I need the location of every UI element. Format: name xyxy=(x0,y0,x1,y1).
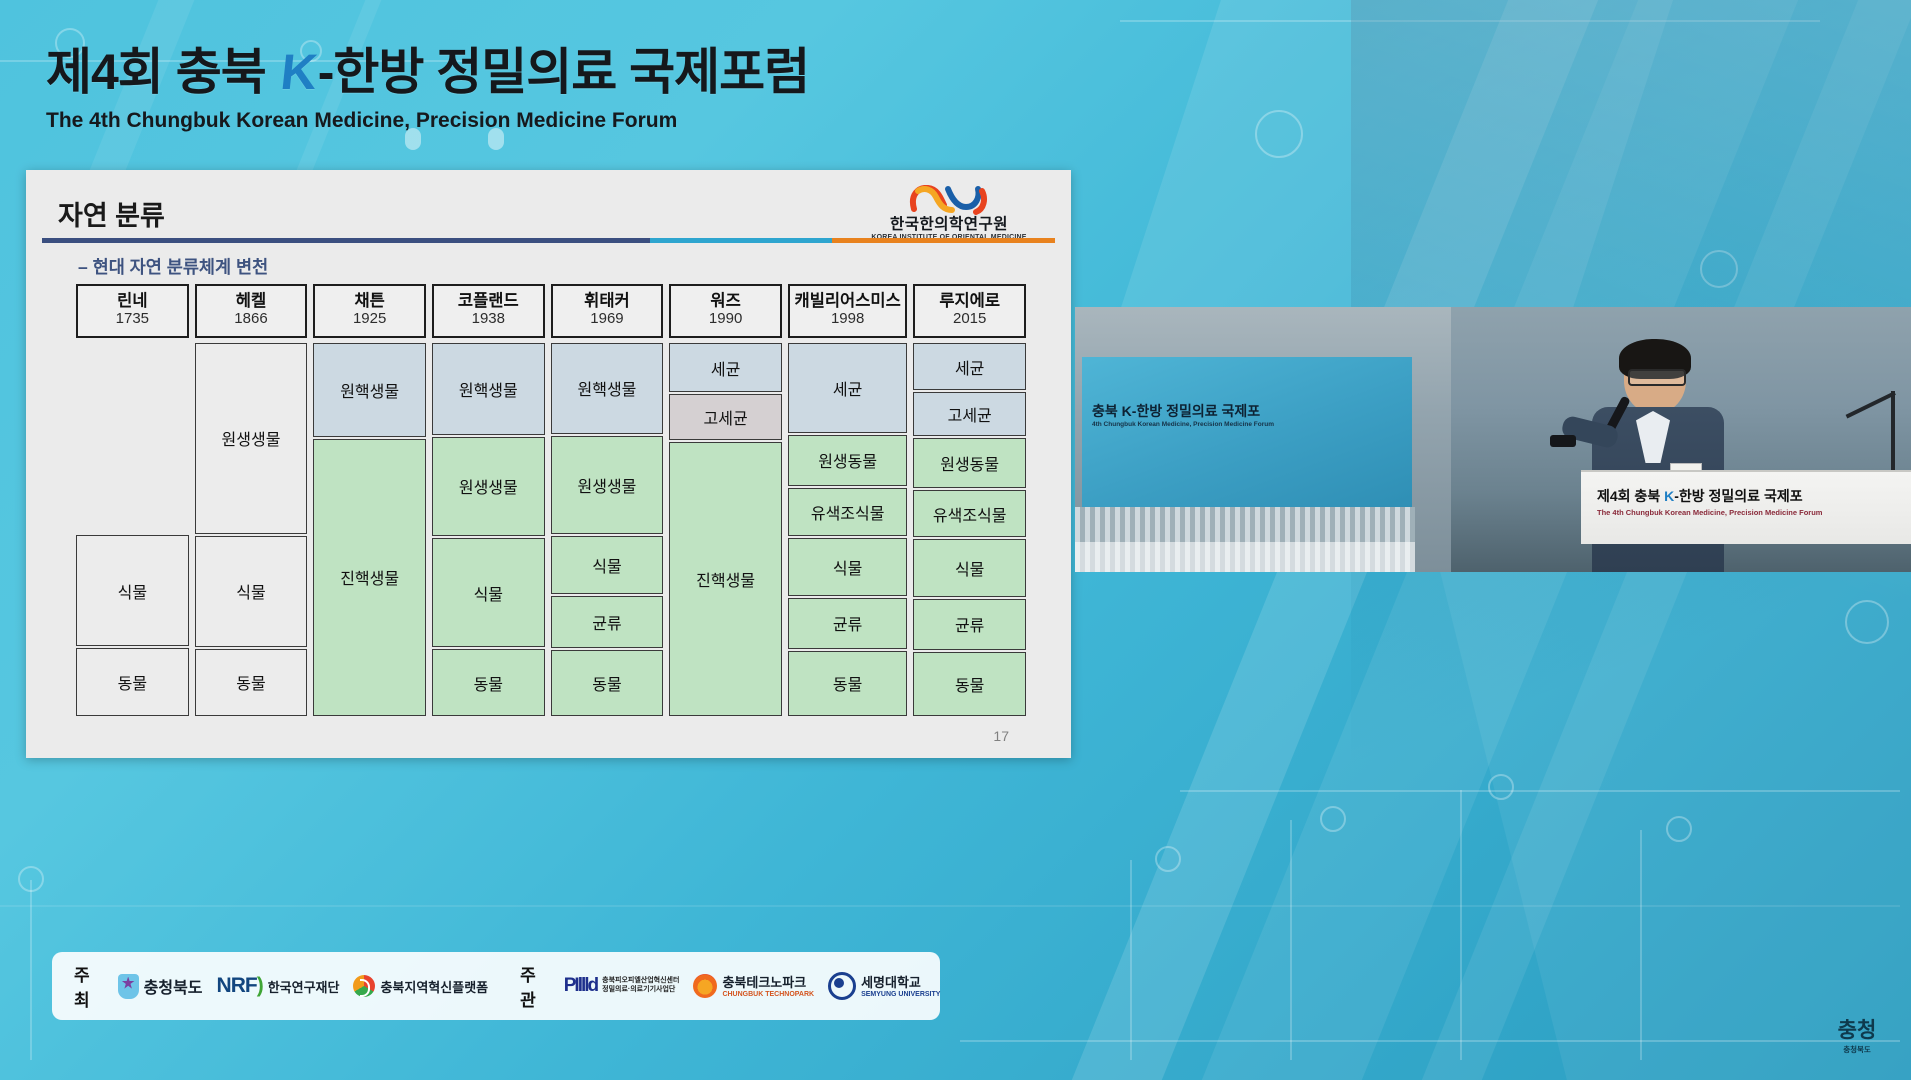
organizer-label-2: 정밀의료·의료기기사업단 xyxy=(602,986,679,995)
table-cell: 균류 xyxy=(788,598,907,649)
organizer-label-2: CHUNGBUK TECHNOPARK xyxy=(722,991,814,1000)
organizer-label: 주관 xyxy=(520,961,536,1011)
bg-line-4 xyxy=(1130,860,1132,1060)
column-year: 1925 xyxy=(353,310,386,329)
stage-banner-title: 제4회 충북 K-한방 정밀의료 국제포 xyxy=(1597,486,1803,506)
slide-title: 자연 분류 xyxy=(58,194,165,233)
kiom-ribbon-icon xyxy=(908,185,990,215)
bg-line-8 xyxy=(30,880,32,1060)
column-body: 식물동물 xyxy=(76,343,189,716)
table-cell: 동물 xyxy=(551,650,664,716)
table-cell: 세균 xyxy=(788,343,907,433)
title-post: -한방 정밀의료 국제포럼 xyxy=(318,44,809,100)
video-light-band xyxy=(1075,542,1415,572)
table-cell: 균류 xyxy=(913,599,1026,650)
slide-rule-divider xyxy=(42,238,1055,243)
kiom-symbol-icon xyxy=(908,185,990,215)
glasses-icon xyxy=(1628,369,1686,386)
column-name: 루지에로 xyxy=(939,293,1000,310)
column-header: 채튼1925 xyxy=(313,284,426,338)
table-cell: 고세균 xyxy=(669,394,782,440)
table-cell: 유색조식물 xyxy=(788,488,907,536)
stage-banner: 제4회 충북 K-한방 정밀의료 국제포 The 4th Chungbuk Ko… xyxy=(1581,470,1911,544)
table-column: 휘태커1969원핵생물원생생물식물균류동물 xyxy=(551,284,664,716)
bg-line-5 xyxy=(1290,820,1292,1060)
column-body: 원핵생물진핵생물 xyxy=(313,343,426,716)
table-column: 캐빌리어스미스1998세균원생동물유색조식물식물균류동물 xyxy=(788,284,907,716)
k-mark-icon: K xyxy=(276,46,321,99)
sponsor-cb-innovation: 충북지역혁신플랫폼 xyxy=(353,975,488,997)
table-cell: 원핵생물 xyxy=(313,343,426,437)
chungbuk-emblem-icon xyxy=(118,974,139,999)
table-cell xyxy=(76,343,189,533)
nrf-logo-icon: NRF) xyxy=(217,974,263,998)
table-cell: 원생동물 xyxy=(788,435,907,486)
column-year: 1938 xyxy=(472,310,505,329)
table-cell: 원핵생물 xyxy=(551,343,664,434)
sponsor-label: 한국연구재단 xyxy=(268,977,340,996)
column-year: 2015 xyxy=(953,310,986,329)
host-label: 주최 xyxy=(74,961,90,1011)
ctp-logo-icon xyxy=(693,974,717,998)
banner-k-icon: K xyxy=(1664,488,1674,504)
organizer-label-2: SEMYUNG UNIVERSITY xyxy=(861,991,940,1000)
page-subtitle: The 4th Chungbuk Korean Medicine, Precis… xyxy=(46,109,809,133)
column-year: 1866 xyxy=(234,310,267,329)
projection-title: 충북 K-한방 정밀의료 국제포 xyxy=(1092,401,1260,421)
table-column: 워즈1990세균고세균진핵생물 xyxy=(669,284,782,716)
table-cell: 균류 xyxy=(551,596,664,648)
table-cell: 원생생물 xyxy=(432,437,545,536)
sponsor-footer: 주최 충청북도 NRF) 한국연구재단 충북지역혁신플랫폼 주관 PIllld … xyxy=(52,952,940,1020)
bg-circle-3 xyxy=(1255,110,1303,158)
table-cell: 식물 xyxy=(788,538,907,596)
cb-innovation-icon xyxy=(353,975,375,997)
table-cell: 식물 xyxy=(76,535,189,647)
banner-post: -한방 정밀의료 국제포 xyxy=(1674,488,1802,504)
column-name: 린네 xyxy=(117,293,147,310)
table-cell: 고세균 xyxy=(913,392,1026,436)
table-cell: 동물 xyxy=(788,651,907,716)
table-column: 코플랜드1938원핵생물원생생물식물동물 xyxy=(432,284,545,716)
presenter-clicker-icon xyxy=(1550,435,1576,447)
column-header: 워즈1990 xyxy=(669,284,782,338)
bg-circle-6 xyxy=(1320,806,1346,832)
table-cell: 원생생물 xyxy=(551,436,664,534)
title-pre: 제4회 충북 xyxy=(46,44,279,100)
sponsor-chungbuk-province: 충청북도 xyxy=(118,974,203,999)
column-body: 원핵생물원생생물식물균류동물 xyxy=(551,343,664,716)
table-cell: 동물 xyxy=(913,652,1026,716)
column-name: 휘태커 xyxy=(584,293,630,310)
watermark-sub: 충청북도 xyxy=(1843,1044,1871,1055)
forum-header: 제4회 충북 K-한방 정밀의료 국제포럼 The 4th Chungbuk K… xyxy=(46,46,809,133)
column-body: 원핵생물원생생물식물동물 xyxy=(432,343,545,716)
column-year: 1735 xyxy=(116,310,149,329)
table-cell: 식물 xyxy=(551,536,664,595)
column-name: 헤켈 xyxy=(236,293,266,310)
table-cell: 식물 xyxy=(195,536,308,647)
organizer-ctp: 충북테크노파크 CHUNGBUK TECHNOPARK xyxy=(693,972,814,1000)
column-body: 세균고세균진핵생물 xyxy=(669,343,782,716)
column-header: 루지에로2015 xyxy=(913,284,1026,338)
table-cell: 진핵생물 xyxy=(313,439,426,716)
column-year: 1969 xyxy=(590,310,623,329)
presentation-slide[interactable]: 자연 분류 한국한의학연구원 KOREA INSTITUTE OF ORIENT… xyxy=(26,170,1071,758)
semyung-logo-icon xyxy=(828,972,856,1000)
banner-pre: 제4회 충북 xyxy=(1597,488,1664,504)
pmid-logo-icon: PIllld xyxy=(564,975,597,997)
column-body: 원생생물식물동물 xyxy=(195,343,308,716)
chungbuk-watermark: 충청 충청북도 xyxy=(1827,1008,1887,1066)
column-body: 세균고세균원생동물유색조식물식물균류동물 xyxy=(913,343,1026,716)
table-cell: 세균 xyxy=(669,343,782,392)
column-year: 1990 xyxy=(709,310,742,329)
column-year: 1998 xyxy=(831,310,864,329)
column-name: 채튼 xyxy=(354,293,384,310)
column-header: 휘태커1969 xyxy=(551,284,664,338)
stage-banner-subtitle: The 4th Chungbuk Korean Medicine, Precis… xyxy=(1597,508,1822,517)
table-cell: 세균 xyxy=(913,343,1026,390)
table-cell: 식물 xyxy=(432,538,545,648)
column-name: 캐빌리어스미스 xyxy=(795,293,901,310)
video-projection-screen: 충북 K-한방 정밀의료 국제포 4th Chungbuk Korean Med… xyxy=(1082,357,1412,507)
watermark-glyph: 충청 xyxy=(1838,1020,1877,1041)
column-header: 캐빌리어스미스1998 xyxy=(788,284,907,338)
classification-table: 린네1735식물동물헤켈1866원생생물식물동물채튼1925원핵생물진핵생물코플… xyxy=(76,284,1026,716)
bg-circle-9 xyxy=(18,866,44,892)
column-header: 린네1735 xyxy=(76,284,189,338)
table-cell: 동물 xyxy=(432,649,545,716)
column-body: 세균원생동물유색조식물식물균류동물 xyxy=(788,343,907,716)
table-cell: 원핵생물 xyxy=(432,343,545,435)
table-cell: 원생동물 xyxy=(913,438,1026,489)
organizer-label-1: 충북테크노파크 xyxy=(722,972,814,991)
organizer-pmid: PIllld 충북피오피엘산업혁신센터 정밀의료·의료기기사업단 xyxy=(564,975,680,997)
page-title: 제4회 충북 K-한방 정밀의료 국제포럼 xyxy=(46,46,809,99)
table-cell: 동물 xyxy=(195,649,308,716)
projection-subtitle: 4th Chungbuk Korean Medicine, Precision … xyxy=(1092,421,1274,428)
slide-page-number: 17 xyxy=(993,728,1009,744)
sponsor-nrf: NRF) 한국연구재단 xyxy=(217,974,340,998)
organizer-label-1: 세명대학교 xyxy=(861,972,940,991)
column-header: 헤켈1866 xyxy=(195,284,308,338)
table-cell: 진핵생물 xyxy=(669,442,782,716)
sponsor-label: 충청북도 xyxy=(144,974,203,998)
sponsor-label: 충북지역혁신플랫폼 xyxy=(380,977,488,996)
column-name: 워즈 xyxy=(710,293,740,310)
table-column: 린네1735식물동물 xyxy=(76,284,189,716)
table-cell: 동물 xyxy=(76,648,189,716)
table-column: 채튼1925원핵생물진핵생물 xyxy=(313,284,426,716)
organizer-label-1: 충북피오피엘산업혁신센터 xyxy=(602,977,679,986)
table-cell: 원생생물 xyxy=(195,343,308,534)
kiom-name-ko: 한국한의학연구원 xyxy=(890,217,1008,233)
table-cell: 식물 xyxy=(913,539,1026,597)
speaker-video-overlay[interactable]: 충북 K-한방 정밀의료 국제포 4th Chungbuk Korean Med… xyxy=(1075,307,1911,572)
organizer-semyung: 세명대학교 SEMYUNG UNIVERSITY xyxy=(828,972,940,1000)
table-cell: 유색조식물 xyxy=(913,490,1026,537)
table-column: 헤켈1866원생생물식물동물 xyxy=(195,284,308,716)
kiom-logo: 한국한의학연구원 KOREA INSTITUTE OF ORIENTAL MED… xyxy=(849,182,1049,244)
bg-circle-5 xyxy=(1155,846,1181,872)
column-header: 코플랜드1938 xyxy=(432,284,545,338)
column-name: 코플랜드 xyxy=(458,293,519,310)
slide-section-label: – 현대 자연 분류체계 변천 xyxy=(78,254,268,279)
table-column: 루지에로2015세균고세균원생동물유색조식물식물균류동물 xyxy=(913,284,1026,716)
